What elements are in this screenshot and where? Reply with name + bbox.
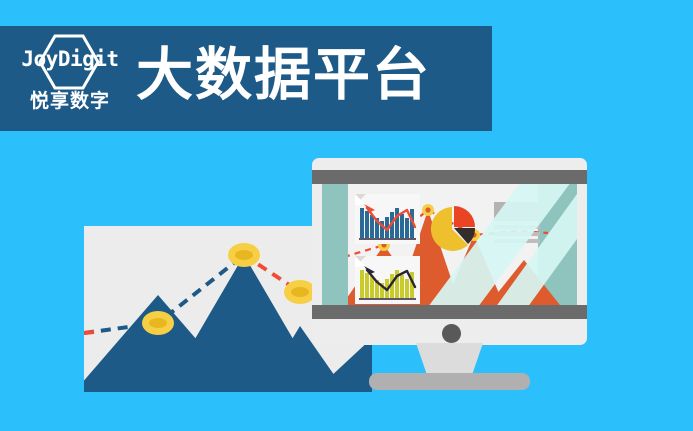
placeholder-line: [494, 239, 540, 243]
logo-wordmark: JoyDigit: [14, 49, 126, 70]
logo-subtitle: 悦享数字: [14, 92, 126, 111]
screen-sidebar-left: [322, 184, 348, 305]
bar-chart-card-blue[interactable]: [355, 194, 420, 244]
pie-chart[interactable]: [428, 204, 478, 254]
monitor-base: [369, 373, 530, 390]
text-block-placeholder: [494, 202, 540, 243]
brand-logo: JoyDigit 悦享数字: [14, 34, 126, 122]
banner-canvas: JoyDigit 悦享数字 大数据平台: [0, 0, 693, 431]
placeholder-line: [494, 232, 540, 236]
placeholder-headline-bar: [494, 202, 540, 221]
monitor-power-knob[interactable]: [442, 324, 461, 343]
desktop-monitor: [312, 158, 587, 387]
pie-slice-red: [454, 206, 475, 227]
monitor-screen[interactable]: [322, 184, 577, 305]
monitor-neck: [312, 343, 587, 377]
bar-chart-card-olive[interactable]: [355, 256, 420, 304]
page-title: 大数据平台: [136, 44, 431, 107]
monitor-bezel-bottom: [312, 305, 587, 319]
placeholder-line: [494, 225, 540, 229]
monitor-bezel-top: [312, 170, 587, 184]
